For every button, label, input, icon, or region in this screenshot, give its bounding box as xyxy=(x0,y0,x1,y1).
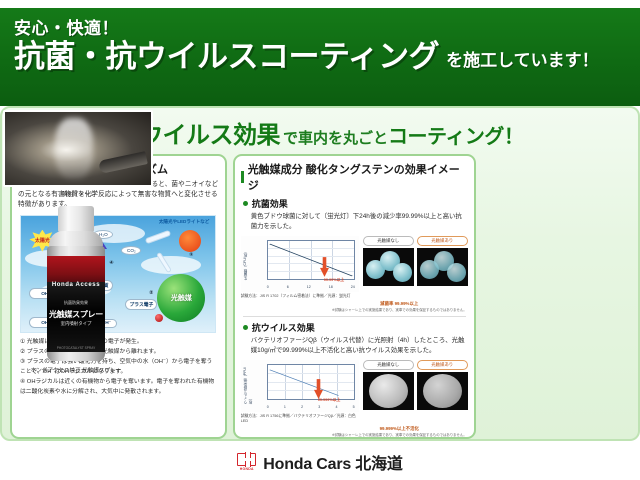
xtick: 18 xyxy=(329,285,333,289)
antiviral-chart: ウイルス感染価（PFU/枚） xyxy=(241,360,359,424)
title-bar-icon xyxy=(241,171,244,183)
xtick: 6 xyxy=(287,285,289,289)
chart-trend-line xyxy=(268,241,354,279)
photo-caption: 光触媒なし xyxy=(363,236,414,246)
bottle-small-text: 抗菌防臭効果 xyxy=(47,300,105,306)
chart-plot-area: 99.99%以上 xyxy=(267,240,355,280)
chart-caption: 試験方法：JIS R 1702（フィルム密着法）に準拠／光源：蛍光灯 xyxy=(241,294,359,299)
header-banner: 安心・快適！ 抗菌・抗ウイルスコーティング を施工しています！ xyxy=(0,8,640,106)
red-down-arrow-icon xyxy=(320,257,329,277)
list-item: ④ OHラジカルは近くの有機物から電子を奪います。電子を奪われた有機物は二酸化炭… xyxy=(20,378,218,398)
photo-caption: 光触媒あり xyxy=(417,360,468,370)
petri-dish-photo xyxy=(363,372,414,410)
spray-photo xyxy=(3,110,153,187)
effect-title-text: 光触媒成分 酸化タングステンの効果イメージ xyxy=(248,161,468,193)
antiviral-heading-text: 抗ウイルス効果 xyxy=(252,321,315,334)
step-mark: ① xyxy=(189,252,193,258)
co2-molecule-label: CO₂ xyxy=(121,246,141,255)
xtick: 0 xyxy=(267,285,269,289)
bottle-caption: ホンダアクセス純正 光触媒スプレー xyxy=(6,366,146,374)
photocatalyst-sphere: 光触媒 xyxy=(157,274,205,322)
antiviral-result: 99.999%以上不活化 xyxy=(331,426,468,432)
xtick: 12 xyxy=(307,285,311,289)
xtick: 1 xyxy=(284,405,286,409)
colony-disc xyxy=(369,374,408,408)
panels-row: 光触媒スプレーのメカニズム 光触媒は太陽光やLEDライトなどの光が当たると、菌や… xyxy=(2,150,638,439)
antibacterial-heading: 抗菌効果 xyxy=(243,197,468,210)
bullet-dot-icon xyxy=(243,201,248,206)
xtick: 5 xyxy=(353,405,355,409)
photo-column-control: 光触媒なし xyxy=(363,236,414,286)
photo-column-treated: 光触媒あり xyxy=(417,236,468,286)
mist-effect xyxy=(55,118,93,179)
petri-dish-photo xyxy=(417,248,468,286)
bottle-main-text: 光触媒スプレー xyxy=(47,309,105,320)
plus-electron-label: プラス電子 xyxy=(125,299,157,310)
antibacterial-body: 黄色ブドウ球菌に対して〔蛍光灯〕下24h後の減少率99.99%以上と高い抗菌力を… xyxy=(241,212,468,233)
chart-box: ウイルス感染価（PFU/枚） xyxy=(241,360,359,412)
header-tail-text: を施工しています！ xyxy=(446,46,599,74)
xtick: 2 xyxy=(301,405,303,409)
cloud-shape xyxy=(141,256,201,274)
photocatalyst-label: 光触媒 xyxy=(171,293,192,303)
light-source-note: 太陽光やLEDライトなど xyxy=(159,219,210,225)
product-bottle: Honda Access 抗菌防臭効果 光触媒スプレー 室内噴射タイプ PHOT… xyxy=(28,206,124,368)
antibacterial-heading-text: 抗菌効果 xyxy=(252,197,288,210)
antiviral-body: バクテリオファージQβ（ウイルス代替）に光照射（4h）したところ、光触媒10g/… xyxy=(241,336,468,357)
header-subtitle: 安心・快適！ xyxy=(14,14,626,39)
photo-caption: 光触媒なし xyxy=(363,360,414,370)
bottle-shoulder xyxy=(49,231,103,247)
sub-headline-part3: で車内を丸ごと xyxy=(283,127,388,148)
photo-column-treated: 光触媒あり xyxy=(417,360,468,410)
antiviral-figures: ウイルス感染価（PFU/枚） xyxy=(241,360,468,424)
antiviral-heading: 抗ウイルス効果 xyxy=(243,321,468,334)
chart-caption: 試験方法：JIS R 1756に準拠／バクテリオファージQβ／光源：白色LED xyxy=(241,414,359,424)
bottle-foot-text: PHOTOCATALYST SPRAY xyxy=(47,346,105,350)
chart-ylabel: ウイルス感染価（PFU/枚） xyxy=(242,366,252,404)
footer: HONDA Honda Cars 北海道 xyxy=(0,443,640,480)
xtick: 3 xyxy=(318,405,320,409)
colony-disc xyxy=(423,374,462,408)
electron-dot xyxy=(155,314,163,322)
chart-trend-line xyxy=(268,365,354,399)
antibacterial-result-note: ※試験はシャーレ上での実施結果であり、実車での効果を保証するものではありません。 xyxy=(331,308,468,312)
effect-panel-title: 光触媒成分 酸化タングステンの効果イメージ xyxy=(241,161,468,193)
chart-box: 生菌数（CFU/枚） xyxy=(241,236,359,292)
bottle-body: Honda Access 抗菌防臭効果 光触媒スプレー 室内噴射タイプ PHOT… xyxy=(47,246,105,361)
header-main-title: 抗菌・抗ウイルスコーティング xyxy=(14,41,439,74)
led-lamp-icon xyxy=(179,230,201,252)
colony-disc xyxy=(393,263,412,282)
spray-nozzle xyxy=(98,151,148,174)
body-area: 高い 抗菌・抗ウイルス効果 で車内を丸ごと コーティング！ 光触媒スプレーのメカ… xyxy=(0,106,640,441)
bottle-type-text: 室内噴射タイプ xyxy=(47,321,105,327)
dealer-name: Honda Cars 北海道 xyxy=(263,450,402,474)
antibacterial-chart: 生菌数（CFU/枚） xyxy=(241,236,359,299)
antibacterial-photos: 光触媒なし 光触媒あり xyxy=(363,236,468,286)
antiviral-photos: 光触媒なし 光触媒あり xyxy=(363,360,468,410)
petri-dish-photo xyxy=(417,372,468,410)
chart-xticks: 0 1 2 3 4 5 xyxy=(267,405,355,409)
chart-annotation: 99.999%以上 xyxy=(318,398,341,403)
photo-column-control: 光触媒なし xyxy=(363,360,414,410)
antibacterial-figures: 生菌数（CFU/枚） xyxy=(241,236,468,299)
chart-xticks: 0 6 12 18 24 xyxy=(267,285,355,289)
antiviral-result-note: ※試験はシャーレ上での実施結果であり、実車での効果を保証するものではありません。 xyxy=(331,433,468,437)
step-mark: ② xyxy=(149,290,153,296)
honda-logo-word: HONDA xyxy=(237,467,256,471)
xtick: 4 xyxy=(335,405,337,409)
bottle-label-red xyxy=(47,256,105,282)
effect-panel: 光触媒成分 酸化タングステンの効果イメージ 抗菌効果 黄色ブドウ球菌に対して〔蛍… xyxy=(233,154,476,439)
bottle-brand-text: Honda Access xyxy=(47,282,105,288)
bullet-dot-icon xyxy=(243,325,248,330)
fluorescent-tube-icon xyxy=(145,229,171,244)
xtick: 0 xyxy=(267,405,269,409)
honda-h-mark xyxy=(237,453,256,466)
section-divider xyxy=(243,316,466,317)
red-down-arrow-icon xyxy=(314,379,323,399)
petri-dish-photo xyxy=(363,248,414,286)
colony-disc xyxy=(447,263,466,282)
advertisement-page: 安心・快適！ 抗菌・抗ウイルスコーティング を施工しています！ 高い 抗菌・抗ウ… xyxy=(0,0,640,480)
product-panel: 噴射イメージ Honda Access 抗菌防臭効果 光触媒スプレー 室内噴射タ… xyxy=(482,154,632,439)
photo-caption: 光触媒あり xyxy=(417,236,468,246)
bottle-cap xyxy=(58,206,94,232)
honda-logo-icon: HONDA xyxy=(237,453,256,470)
sub-headline-part4: コーティング！ xyxy=(388,120,523,149)
chart-annotation: 99.99%以上 xyxy=(324,278,344,283)
chart-ylabel: 生菌数（CFU/枚） xyxy=(242,242,247,280)
spray-photo-caption: 噴射イメージ xyxy=(62,190,95,198)
chart-plot-area: 99.999%以上 xyxy=(267,364,355,400)
antibacterial-result: 減菌率 99.99%以上 xyxy=(331,301,468,307)
xtick: 24 xyxy=(351,285,355,289)
